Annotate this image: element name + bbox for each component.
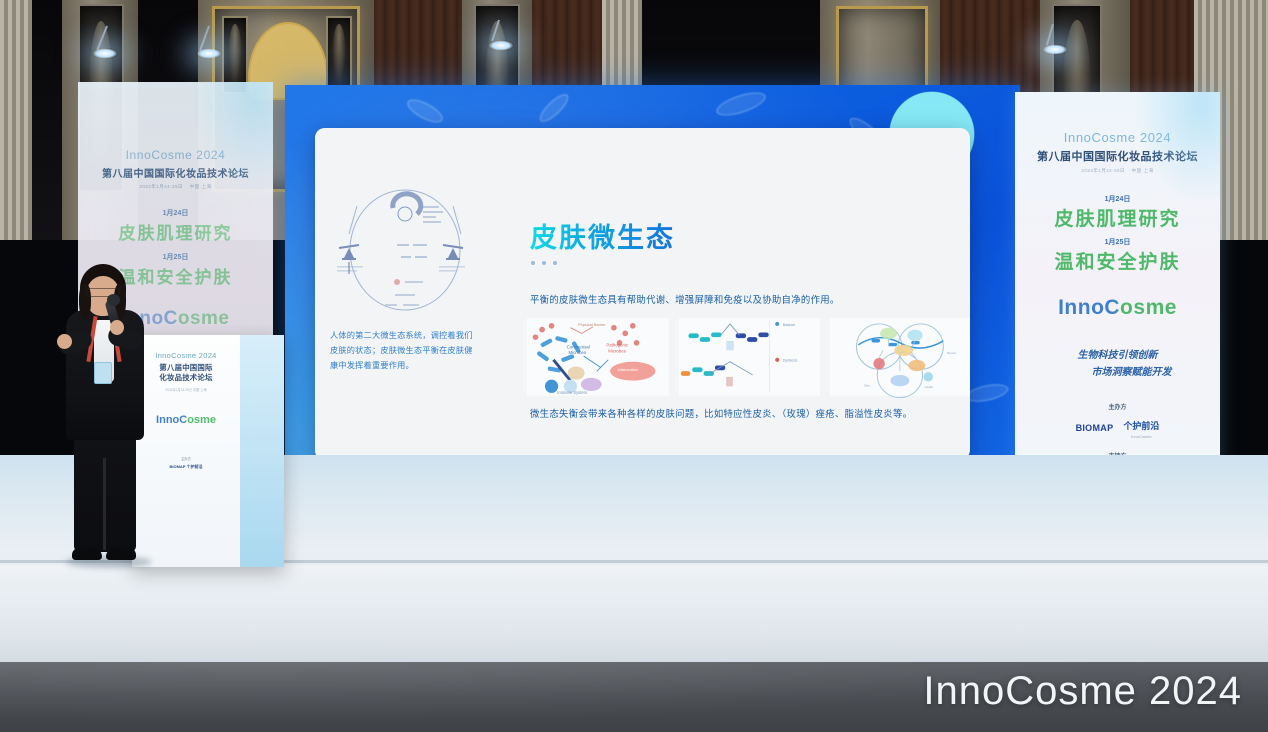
microphone-head	[107, 294, 120, 306]
watermark-innocosme: InnoCosme 2024	[923, 669, 1242, 714]
banner-right-decoration	[1128, 92, 1220, 212]
spotlight-2	[196, 48, 222, 59]
speaker-hand-right	[110, 320, 124, 335]
wall-slats-far-left	[0, 0, 32, 240]
slide-figures: Commensal Microbes Pathogenic Microbes P…	[527, 316, 970, 398]
skin-cycle-diagram	[335, 186, 475, 314]
svg-text:Commensal: Commensal	[567, 344, 590, 349]
speaker-badge	[94, 362, 112, 384]
svg-text:Microbes: Microbes	[569, 350, 587, 355]
banner-left-day1-date: 1月24日	[78, 208, 273, 218]
banner-right-day2-theme: 温和安全护肤	[1015, 247, 1220, 274]
banner-left-meta-date: 2024年1月24-25日	[139, 184, 183, 189]
svg-text:Balance: Balance	[783, 323, 795, 327]
svg-text:Immune System: Immune System	[557, 390, 587, 395]
banner-right-script-line-2: 市场洞察赋能开发	[1015, 363, 1220, 378]
spotlight-1	[92, 48, 118, 59]
svg-text:Dysbiosis: Dysbiosis	[783, 359, 798, 363]
svg-text:Microbes: Microbes	[608, 348, 626, 353]
svg-text:Inflammation: Inflammation	[618, 368, 638, 372]
sponsor-biomap-logo: BIOMAP	[1076, 423, 1114, 433]
banner-left-day1-theme: 皮肤肌理研究	[78, 219, 273, 244]
svg-text:Barrier: Barrier	[947, 351, 956, 355]
slide-title: 皮肤微生态	[530, 216, 675, 255]
banner-right-script-line-1: 生物科技引领创新	[1015, 346, 1220, 361]
svg-text:Physical Barrier: Physical Barrier	[578, 322, 606, 327]
sponsor-gehu-logo: 个护前沿	[1123, 421, 1159, 431]
speaker-hand-left	[57, 334, 72, 349]
led-stage-screen: 人体的第二大微生态系统，调控着我们皮肤的状态；皮肤微生态平衡在皮肤健康中发挥着重…	[285, 85, 1020, 495]
banner-left-decoration	[185, 82, 273, 202]
speaker-shoe-left	[72, 548, 102, 560]
stage-front-face	[0, 565, 1268, 665]
speaker-shoe-right	[106, 548, 136, 560]
presentation-slide: 人体的第二大微生态系统，调控着我们皮肤的状态；皮肤微生态平衡在皮肤健康中发挥着重…	[315, 128, 970, 460]
slide-side-note: 人体的第二大微生态系统，调控着我们皮肤的状态；皮肤微生态平衡在皮肤健康中发挥着重…	[330, 328, 478, 374]
speaker-leg-split	[103, 458, 106, 550]
spotlight-4	[1042, 44, 1068, 55]
figure-microbe-immune: Commensal Microbes Pathogenic Microbes P…	[527, 316, 669, 398]
stage-scene: 人体的第二大微生态系统，调控着我们皮肤的状态；皮肤微生态平衡在皮肤健康中发挥着重…	[0, 0, 1268, 732]
spotlight-3	[488, 40, 514, 51]
svg-text:Skin: Skin	[864, 383, 870, 387]
banner-right-meta-date: 2024年1月24-25日	[1081, 168, 1125, 173]
svg-text:Pathogenic: Pathogenic	[606, 343, 628, 348]
sponsor-gehu-sub: InnoCosme	[1123, 434, 1159, 439]
speaker-presenter	[52, 258, 160, 570]
banner-right-organizers: BIOMAP 个护前沿 InnoCosme	[1015, 416, 1220, 439]
podium-side-panel	[238, 335, 284, 567]
banner-right-logo: InnoCosme	[1015, 296, 1220, 320]
banner-right-organizer-label: 主办方	[1015, 402, 1220, 411]
banner-right: InnoCosme 2024 第八届中国国际化妆品技术论坛 2024年1月24-…	[1015, 92, 1220, 497]
figure-microbiome-bars: Balance Dysbiosis	[679, 316, 821, 398]
slide-body-paragraph-2: 微生态失衡会带来各种各样的皮肤问题，比如特应性皮炎、（玫瑰）痤疮、脂溢性皮炎等。	[530, 405, 965, 423]
wall-niche-center-right	[326, 16, 352, 94]
slide-body-paragraph-1: 平衡的皮肤微生态具有帮助代谢、增强屏障和免疫以及协助自净的作用。	[530, 292, 960, 306]
banner-right-day2-date: 1月25日	[1015, 237, 1220, 247]
svg-text:Health: Health	[925, 385, 934, 389]
slide-dots-decoration	[531, 261, 557, 265]
figure-venn-network: SkinHealth Barrier	[830, 316, 970, 398]
